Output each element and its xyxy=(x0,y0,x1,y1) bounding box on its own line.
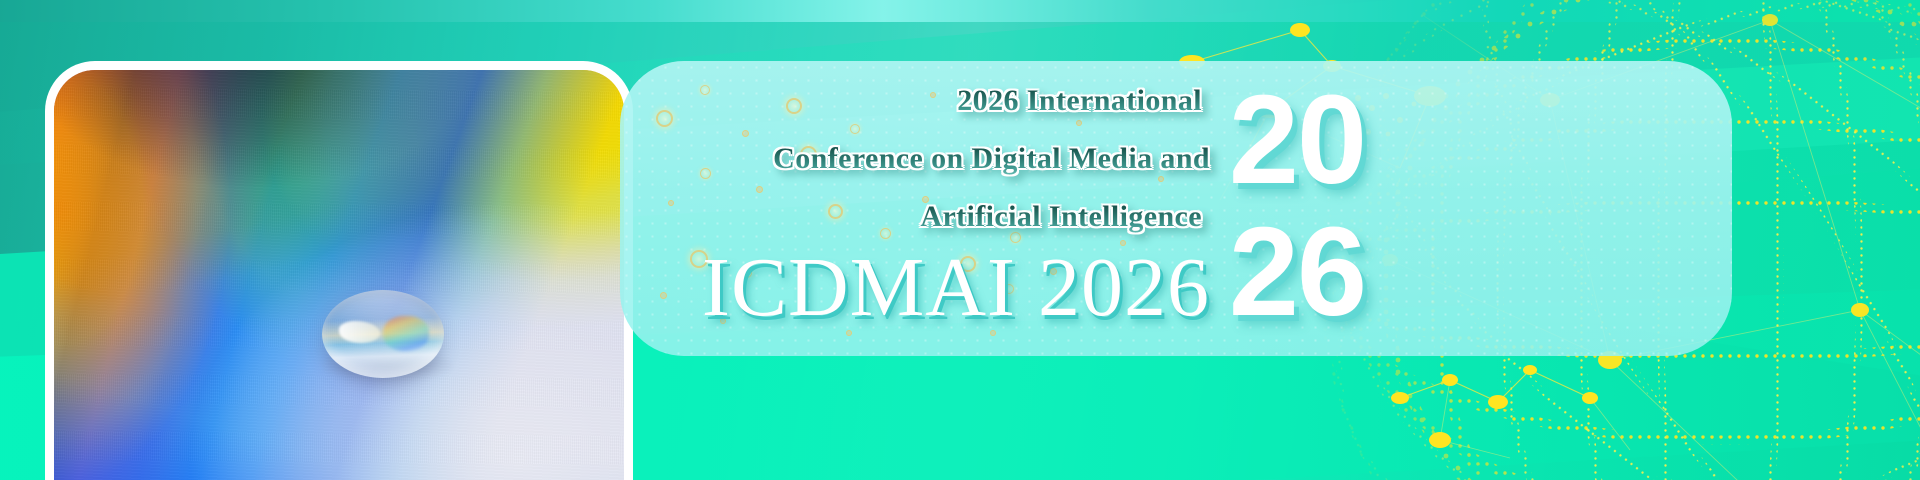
year-badge-top: 20 xyxy=(1222,74,1372,206)
title-line-3: Artificial Intelligence xyxy=(640,188,1202,246)
conference-acronym: ICDMAI 2026 xyxy=(640,240,1210,336)
top-edge-strip xyxy=(0,0,1920,22)
conference-title-block: 2026 International Conference on Digital… xyxy=(640,72,1210,246)
title-line-1: 2026 International xyxy=(640,72,1202,130)
droplet-photo xyxy=(45,61,633,480)
year-badge: 20 26 xyxy=(1222,74,1372,338)
droplet-photo-inner xyxy=(54,70,624,480)
iridescent-grain-texture xyxy=(54,70,624,480)
conference-banner: 2026 International Conference on Digital… xyxy=(0,0,1920,480)
title-line-2: Conference on Digital Media and xyxy=(640,130,1210,188)
year-badge-bottom: 26 xyxy=(1222,206,1372,338)
water-droplet xyxy=(322,290,444,378)
